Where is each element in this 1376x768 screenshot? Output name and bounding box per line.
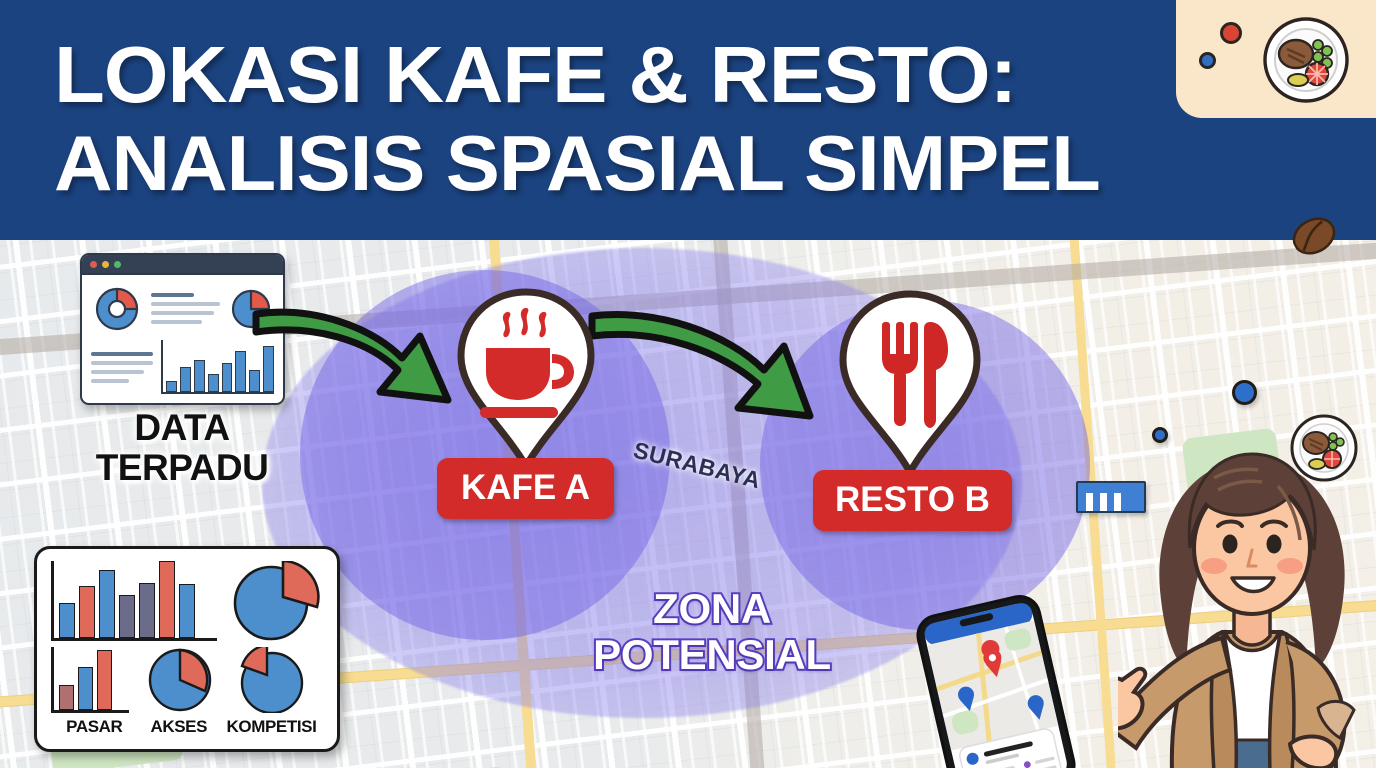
title-line-1: LOKASI KAFE & RESTO:	[54, 31, 1376, 119]
coffee-cup-icon	[456, 286, 596, 472]
window-minimize-dot-icon[interactable]	[102, 261, 109, 268]
card-row-bottom	[51, 647, 323, 713]
zone-label-line2: POTENSIAL	[512, 632, 912, 678]
bar	[222, 363, 233, 392]
dashboard-text-lines-2	[91, 340, 153, 394]
analysis-chart-card[interactable]: PASAR AKSES KOMPETISI	[34, 546, 340, 752]
arrow-data-to-kafe-icon	[252, 296, 462, 416]
card-bar-chart-bottom	[51, 647, 129, 713]
text-line	[151, 293, 194, 297]
text-line	[91, 352, 153, 356]
bar	[99, 570, 115, 638]
bar	[159, 561, 175, 638]
bar	[180, 367, 191, 392]
bar	[59, 603, 75, 638]
pie-chart-kompetisi-icon	[227, 561, 323, 641]
dashboard-titlebar	[82, 255, 283, 275]
card-label-pasar: PASAR	[51, 717, 138, 737]
arrow-kafe-to-resto-icon	[588, 300, 818, 430]
header-dot-red-icon	[1220, 22, 1242, 44]
text-line	[91, 370, 144, 374]
bar	[78, 667, 93, 710]
title-line-2: ANALISIS SPASIAL SIMPEL	[54, 119, 1376, 207]
pie-chart-akses-icon	[139, 647, 221, 713]
header-food-plate-icon	[1260, 14, 1352, 106]
card-label-kompetisi: KOMPETISI	[220, 717, 323, 737]
text-line	[91, 361, 153, 365]
bar	[79, 586, 95, 638]
map-pin-kafe-a[interactable]	[456, 286, 596, 477]
window-maximize-dot-icon[interactable]	[114, 261, 121, 268]
zone-label-line1: ZONA	[512, 586, 912, 632]
text-line	[91, 379, 129, 383]
dashboard-caption: DATA TERPADU	[62, 408, 302, 488]
dashboard-top-row	[91, 283, 274, 333]
text-line	[151, 311, 214, 315]
bar	[208, 374, 219, 392]
bar	[235, 351, 246, 392]
pie-chart-pasar-icon	[231, 647, 313, 713]
card-label-row: PASAR AKSES KOMPETISI	[51, 717, 323, 737]
card-row-top	[51, 561, 323, 641]
text-line	[151, 320, 202, 324]
text-line	[151, 302, 220, 306]
map-dot-icon	[1232, 380, 1257, 405]
bar	[139, 583, 155, 638]
card-label-akses: AKSES	[138, 717, 220, 737]
bar	[59, 685, 74, 710]
header-dot-blue-icon	[1199, 52, 1216, 69]
infographic-stage: SURABAYA ZONA POTENSIAL	[0, 0, 1376, 768]
donut-chart-icon	[91, 283, 143, 333]
dashboard-caption-line2: TERPADU	[62, 448, 302, 488]
bar	[166, 381, 177, 392]
bar	[194, 360, 205, 392]
map-pin-resto-b[interactable]	[838, 288, 982, 483]
woman-presenter-illustration	[1118, 408, 1376, 768]
card-bar-chart-top	[51, 561, 217, 641]
zone-label: ZONA POTENSIAL	[512, 586, 912, 678]
page-title: LOKASI KAFE & RESTO: ANALISIS SPASIAL SI…	[0, 0, 1376, 238]
pin-label-resto-b[interactable]: RESTO B	[813, 470, 1012, 531]
dashboard-bottom-row	[91, 340, 274, 394]
fork-knife-icon	[838, 288, 982, 478]
bar	[119, 595, 135, 638]
dashboard-text-lines	[151, 293, 220, 324]
bar	[179, 584, 195, 638]
pin-label-kafe-a[interactable]: KAFE A	[437, 458, 614, 519]
bar	[97, 650, 112, 710]
window-close-dot-icon[interactable]	[90, 261, 97, 268]
